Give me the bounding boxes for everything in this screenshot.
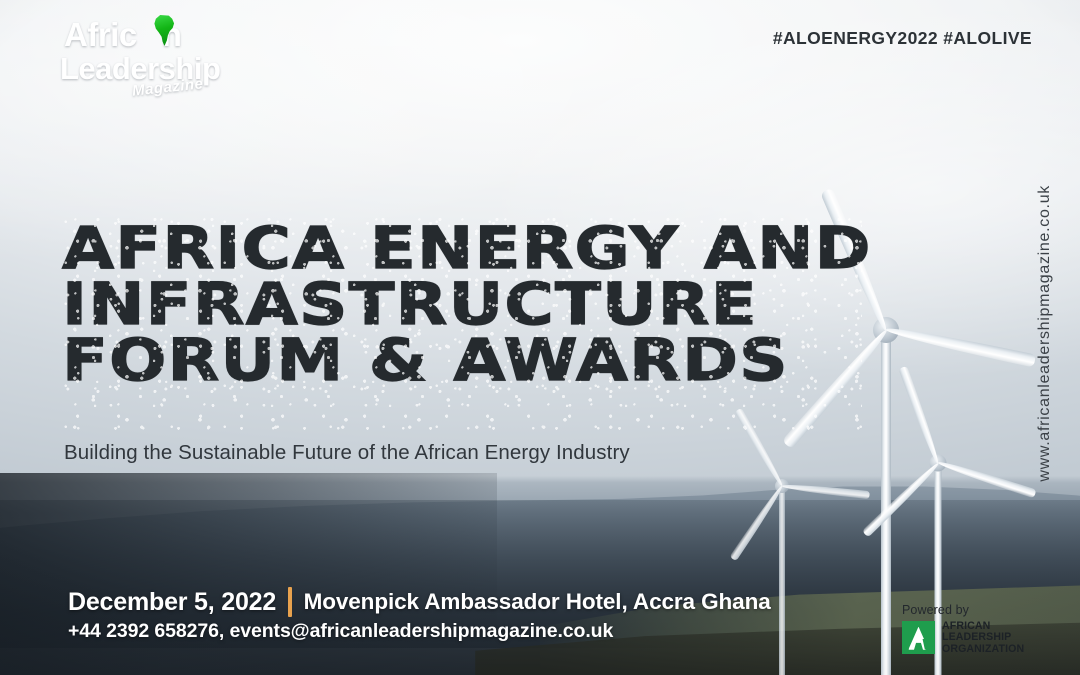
- date-venue-row: December 5, 2022 Movenpick Ambassador Ho…: [68, 587, 771, 617]
- event-title: AFRICA ENERGY AND INFRASTRUCTURE FORUM &…: [62, 222, 852, 388]
- event-subtitle: Building the Sustainable Future of the A…: [64, 441, 630, 465]
- african-leadership-organization-icon: [902, 621, 935, 654]
- logo-line-african: Africn: [64, 18, 210, 52]
- african-leadership-organization-logo[interactable]: AFRICAN LEADERSHIP ORGANIZATION: [902, 621, 1032, 655]
- org-line-3: ORGANIZATION: [942, 644, 1024, 655]
- powered-by-block: Powered by AFRICAN LEADERSHIP ORGANIZATI…: [902, 603, 1032, 655]
- event-details-footer: December 5, 2022 Movenpick Ambassador Ho…: [68, 587, 771, 643]
- title-line-3: FORUM & AWARDS: [62, 334, 978, 388]
- powered-by-label: Powered by: [902, 603, 1032, 617]
- organization-name: AFRICAN LEADERSHIP ORGANIZATION: [942, 621, 1024, 655]
- title-line-2: INFRASTRUCTURE: [62, 278, 978, 332]
- event-poster: Africn Leadership Magazine #ALOENERGY202…: [0, 0, 1080, 675]
- title-line-1: AFRICA ENERGY AND: [62, 222, 978, 276]
- logo-text-afric: Afric: [64, 16, 137, 53]
- event-venue: Movenpick Ambassador Hotel, Accra Ghana: [304, 589, 771, 615]
- website-vertical[interactable]: www.africanleadershipmagazine.co.uk: [1036, 185, 1054, 482]
- org-line-2: LEADERSHIP: [942, 632, 1024, 643]
- african-leadership-magazine-logo[interactable]: Africn Leadership Magazine: [60, 18, 210, 106]
- hashtags: #ALOENERGY2022 #ALOLIVE: [773, 28, 1032, 49]
- divider: [288, 587, 292, 617]
- contact-info[interactable]: +44 2392 658276, events@africanleadershi…: [68, 620, 771, 643]
- event-date: December 5, 2022: [68, 588, 276, 617]
